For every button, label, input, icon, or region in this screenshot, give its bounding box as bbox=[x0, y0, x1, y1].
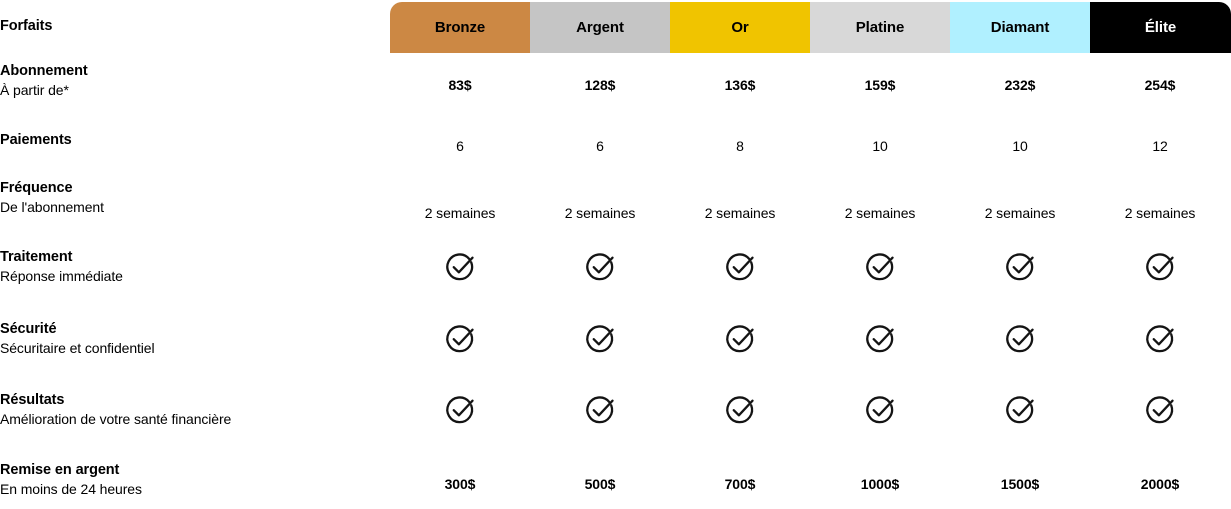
row-label-title: Résultats bbox=[0, 391, 380, 409]
row-label-6: Remise en argentEn moins de 24 heures bbox=[0, 461, 380, 499]
check-circle-icon bbox=[1141, 391, 1179, 429]
cell-value: 128$ bbox=[530, 77, 670, 93]
plan-header-label: Argent bbox=[576, 19, 624, 36]
check-circle-icon bbox=[1001, 248, 1039, 286]
row-label-0: AbonnementÀ partir de* bbox=[0, 62, 380, 100]
check-circle-icon bbox=[1001, 391, 1039, 429]
plan-header-platine[interactable]: Platine bbox=[810, 2, 950, 53]
cell-value: 1000$ bbox=[810, 476, 950, 492]
cell-value bbox=[530, 391, 670, 429]
plan-header-or[interactable]: Or bbox=[670, 2, 810, 53]
row-label-2: FréquenceDe l'abonnement bbox=[0, 179, 380, 217]
pricing-comparison-table: Forfaits BronzeArgentOrPlatineDiamantÉli… bbox=[0, 0, 1231, 509]
cell-value: 10 bbox=[810, 138, 950, 154]
check-circle-icon bbox=[861, 248, 899, 286]
row-label-subtitle: À partir de* bbox=[0, 80, 380, 100]
row-label-3: TraitementRéponse immédiate bbox=[0, 248, 380, 286]
row-label-title: Traitement bbox=[0, 248, 380, 266]
cell-value: 8 bbox=[670, 138, 810, 154]
row-label-1: Paiements bbox=[0, 131, 380, 149]
row-label-title: Fréquence bbox=[0, 179, 380, 197]
cell-value: 1500$ bbox=[950, 476, 1090, 492]
check-circle-icon bbox=[721, 248, 759, 286]
plan-header-label: Diamant bbox=[991, 19, 1049, 36]
cell-value: 500$ bbox=[530, 476, 670, 492]
row-label-subtitle: Réponse immédiate bbox=[0, 266, 380, 286]
cell-value: 2 semaines bbox=[810, 205, 950, 221]
plan-header-label: Élite bbox=[1145, 19, 1176, 36]
check-circle-icon bbox=[581, 391, 619, 429]
cell-value: 2 semaines bbox=[670, 205, 810, 221]
check-circle-icon bbox=[1001, 320, 1039, 358]
check-circle-icon bbox=[721, 320, 759, 358]
cell-value: 2 semaines bbox=[1090, 205, 1230, 221]
page-title: Forfaits bbox=[0, 18, 380, 34]
cell-value bbox=[390, 248, 530, 286]
cell-value: 300$ bbox=[390, 476, 530, 492]
check-circle-icon bbox=[1141, 320, 1179, 358]
row-label-title: Sécurité bbox=[0, 320, 380, 338]
check-circle-icon bbox=[581, 320, 619, 358]
check-circle-icon bbox=[721, 391, 759, 429]
plan-header-label: Or bbox=[731, 19, 748, 36]
table-header-row: Forfaits BronzeArgentOrPlatineDiamantÉli… bbox=[0, 0, 1231, 56]
cell-value bbox=[390, 320, 530, 358]
row-label-title: Paiements bbox=[0, 131, 380, 149]
cell-value: 700$ bbox=[670, 476, 810, 492]
cell-value bbox=[950, 320, 1090, 358]
cell-value: 6 bbox=[390, 138, 530, 154]
cell-value: 2 semaines bbox=[950, 205, 1090, 221]
cell-value: 159$ bbox=[810, 77, 950, 93]
cell-value bbox=[950, 248, 1090, 286]
plan-header-diamant[interactable]: Diamant bbox=[950, 2, 1090, 53]
cell-value: 6 bbox=[530, 138, 670, 154]
cell-value: 10 bbox=[950, 138, 1090, 154]
cell-value: 2 semaines bbox=[530, 205, 670, 221]
cell-value bbox=[390, 391, 530, 429]
cell-value bbox=[670, 391, 810, 429]
plan-header-argent[interactable]: Argent bbox=[530, 2, 670, 53]
check-circle-icon bbox=[1141, 248, 1179, 286]
row-label-subtitle: Sécuritaire et confidentiel bbox=[0, 338, 380, 358]
cell-value bbox=[1090, 391, 1230, 429]
cell-value: 232$ bbox=[950, 77, 1090, 93]
cell-value: 2 semaines bbox=[390, 205, 530, 221]
cell-value: 12 bbox=[1090, 138, 1230, 154]
cell-value: 83$ bbox=[390, 77, 530, 93]
plan-header-bronze[interactable]: Bronze bbox=[390, 2, 530, 53]
plan-header-label: Platine bbox=[856, 19, 904, 36]
check-circle-icon bbox=[441, 391, 479, 429]
row-label-subtitle: De l'abonnement bbox=[0, 197, 380, 217]
cell-value: 136$ bbox=[670, 77, 810, 93]
cell-value bbox=[530, 248, 670, 286]
check-circle-icon bbox=[441, 248, 479, 286]
cell-value bbox=[810, 391, 950, 429]
row-label-title: Abonnement bbox=[0, 62, 380, 80]
cell-value bbox=[670, 248, 810, 286]
row-label-subtitle: Amélioration de votre santé financière bbox=[0, 409, 380, 429]
row-label-title: Remise en argent bbox=[0, 461, 380, 479]
check-circle-icon bbox=[861, 320, 899, 358]
check-circle-icon bbox=[581, 248, 619, 286]
cell-value bbox=[1090, 248, 1230, 286]
cell-value bbox=[670, 320, 810, 358]
cell-value bbox=[530, 320, 670, 358]
plan-header-élite[interactable]: Élite bbox=[1090, 2, 1231, 53]
row-label-subtitle: En moins de 24 heures bbox=[0, 479, 380, 499]
cell-value bbox=[810, 248, 950, 286]
cell-value bbox=[810, 320, 950, 358]
cell-value bbox=[950, 391, 1090, 429]
cell-value: 254$ bbox=[1090, 77, 1230, 93]
check-circle-icon bbox=[441, 320, 479, 358]
check-circle-icon bbox=[861, 391, 899, 429]
cell-value bbox=[1090, 320, 1230, 358]
row-label-4: SécuritéSécuritaire et confidentiel bbox=[0, 320, 380, 358]
cell-value: 2000$ bbox=[1090, 476, 1230, 492]
row-label-5: RésultatsAmélioration de votre santé fin… bbox=[0, 391, 380, 429]
plan-header-label: Bronze bbox=[435, 19, 485, 36]
